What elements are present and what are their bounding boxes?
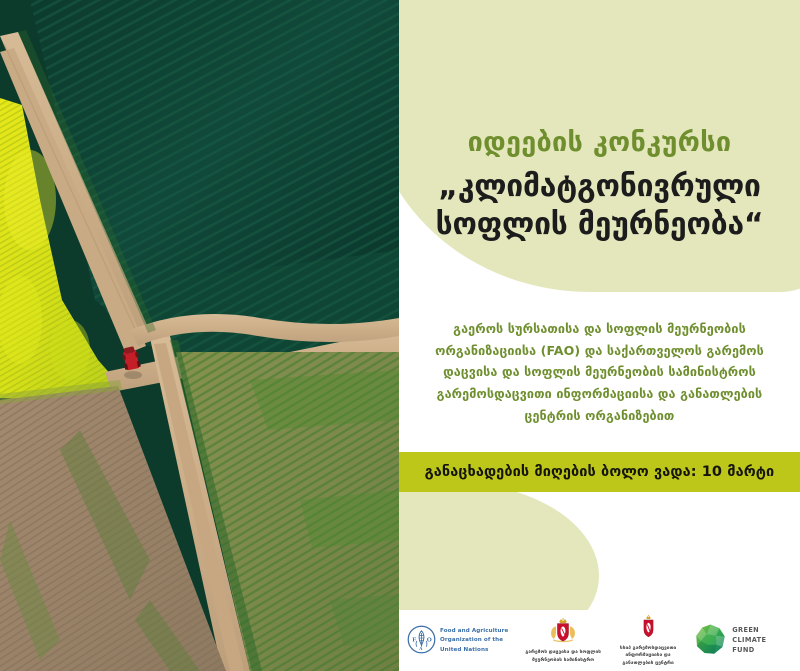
- aerial-farm-photo: [0, 0, 399, 671]
- logo-green-climate-fund: GREEN CLIMATE FUND: [694, 611, 766, 671]
- fao-label-line-3: United Nations: [440, 646, 508, 655]
- ministry-label-line-2: მეურნეობის სამინისტრო: [525, 657, 601, 664]
- poster-title-quoted: „კლიმატგონივრული სოფლის მეურნეობა“: [403, 168, 796, 245]
- gcf-label-line-1: GREEN: [732, 626, 766, 636]
- gcf-label-line-2: CLIMATE: [732, 636, 766, 646]
- logo-fao: F O A Food and Agriculture Organization …: [407, 611, 508, 671]
- fao-label-line-2: Organization of the: [440, 636, 508, 645]
- right-content-panel: იდეების კონკურსი „კლიმატგონივრული სოფლის…: [399, 0, 800, 671]
- fao-label: Food and Agriculture Organization of the…: [440, 627, 508, 654]
- gcf-label-line-3: FUND: [732, 646, 766, 656]
- fao-wheat-emblem-icon: F O A: [407, 625, 436, 658]
- ministry-label-line-1: გარემოს დაცვისა და სოფლის: [525, 649, 601, 656]
- svg-text:F: F: [412, 636, 416, 643]
- svg-text:O: O: [427, 636, 432, 643]
- logo-environmental-info-center: სსიპ გარემოსდაცვითი ინფორმაციისა და განა…: [620, 611, 676, 671]
- poster-body-text: გაეროს სურსათისა და სოფლის მეურნეობის ორ…: [407, 318, 792, 426]
- green-globe-icon: [694, 623, 727, 660]
- center-label: სსიპ გარემოსდაცვითი ინფორმაციისა და განა…: [620, 645, 676, 667]
- svg-text:A: A: [419, 647, 423, 652]
- gcf-label: GREEN CLIMATE FUND: [732, 626, 766, 656]
- center-label-line-1: სსიპ გარემოსდაცვითი: [620, 645, 676, 652]
- center-label-line-2: ინფორმაციისა და: [620, 652, 676, 659]
- deadline-text: განაცხადების მიღების ბოლო ვადა: 10 მარტი: [425, 464, 775, 480]
- georgia-coat-of-arms-icon: [547, 618, 579, 647]
- deadline-banner: განაცხადების მიღების ბოლო ვადა: 10 მარტი: [399, 452, 800, 492]
- ministry-label: გარემოს დაცვისა და სოფლის მეურნეობის სამ…: [525, 649, 601, 663]
- poster-text-content: იდეების კონკურსი „კლიმატგონივრული სოფლის…: [399, 0, 800, 671]
- partner-logos-bar: F O A Food and Agriculture Organization …: [399, 611, 800, 671]
- fao-label-line-1: Food and Agriculture: [440, 627, 508, 636]
- logo-ministry: გარემოს დაცვისა და სოფლის მეურნეობის სამ…: [525, 611, 601, 671]
- georgia-shield-icon: [640, 615, 657, 643]
- poster-root: იდეების კონკურსი „კლიმატგონივრული სოფლის…: [0, 0, 800, 671]
- center-label-line-3: განათლების ცენტრი: [620, 660, 676, 667]
- poster-title-line1: იდეების კონკურსი: [399, 128, 800, 158]
